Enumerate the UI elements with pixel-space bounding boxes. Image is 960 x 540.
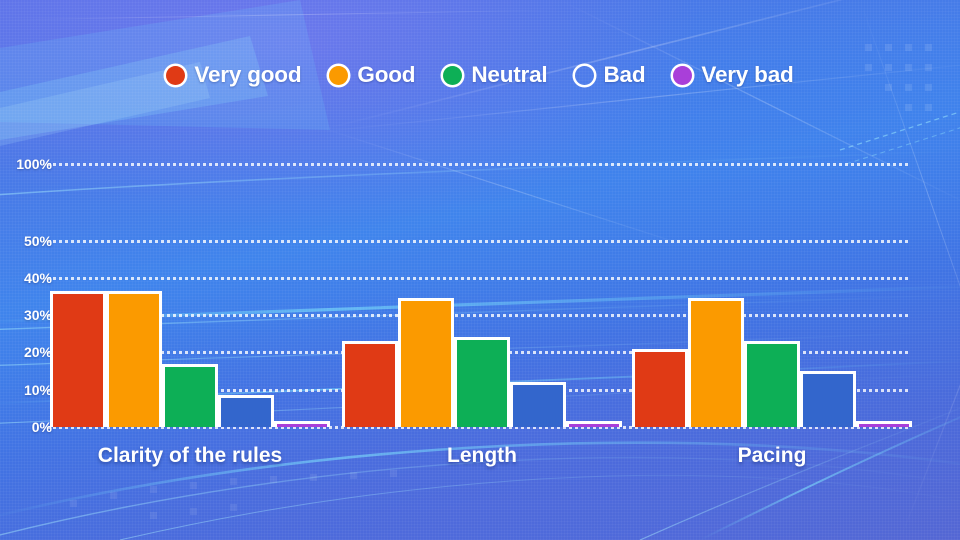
bar-bad-pacing[interactable]	[800, 371, 856, 427]
gridline-50%	[48, 240, 908, 243]
y-axis-tick-label: 0%	[0, 419, 52, 435]
y-axis-tick-label: 30%	[0, 307, 52, 323]
legend-item-label: Very bad	[701, 62, 793, 88]
y-axis-tick-label: 10%	[0, 382, 52, 398]
y-axis-tick-label: 40%	[0, 270, 52, 286]
bar-neutral-pacing[interactable]	[744, 341, 800, 427]
bar-good-length[interactable]	[398, 298, 454, 427]
legend-item-label: Neutral	[471, 62, 547, 88]
x-axis-category-label: Pacing	[738, 444, 807, 468]
chart-legend: Very goodGoodNeutralBadVery bad	[0, 62, 960, 88]
y-axis-tick-label: 20%	[0, 344, 52, 360]
filled-circle-icon	[329, 66, 348, 85]
legend-item-good[interactable]: Good	[329, 62, 415, 88]
bar-bad-length[interactable]	[510, 382, 566, 427]
legend-item-bad[interactable]: Bad	[575, 62, 645, 88]
bar-very-bad-pacing[interactable]	[856, 421, 912, 427]
gridline-100%	[48, 163, 908, 166]
bar-neutral-length[interactable]	[454, 337, 510, 427]
filled-circle-icon	[443, 66, 462, 85]
gridline-40%	[48, 277, 908, 280]
x-axis-category-label: Length	[447, 444, 517, 468]
bar-good-pacing[interactable]	[688, 298, 744, 427]
bar-neutral-clarity-of-the-rules[interactable]	[162, 364, 218, 427]
bar-very-bad-length[interactable]	[566, 421, 622, 427]
bar-very-good-length[interactable]	[342, 341, 398, 427]
filled-circle-icon	[166, 66, 185, 85]
gridline-30%	[48, 314, 908, 317]
legend-item-label: Very good	[194, 62, 301, 88]
y-axis-tick-label: 100%	[0, 156, 52, 172]
legend-item-very-bad[interactable]: Very bad	[673, 62, 793, 88]
bar-very-good-clarity-of-the-rules[interactable]	[50, 291, 106, 427]
slide-canvas: Very goodGoodNeutralBadVery bad 0%10%20%…	[0, 0, 960, 540]
legend-item-label: Good	[357, 62, 415, 88]
hollow-circle-icon	[575, 66, 594, 85]
bar-very-good-pacing[interactable]	[632, 349, 688, 427]
y-axis-tick-label: 50%	[0, 233, 52, 249]
bar-good-clarity-of-the-rules[interactable]	[106, 291, 162, 427]
legend-item-very-good[interactable]: Very good	[166, 62, 301, 88]
filled-circle-icon	[673, 66, 692, 85]
bar-bad-clarity-of-the-rules[interactable]	[218, 395, 274, 427]
bar-very-bad-clarity-of-the-rules[interactable]	[274, 421, 330, 427]
x-axis-category-label: Clarity of the rules	[98, 444, 282, 468]
legend-item-label: Bad	[603, 62, 645, 88]
legend-item-neutral[interactable]: Neutral	[443, 62, 547, 88]
